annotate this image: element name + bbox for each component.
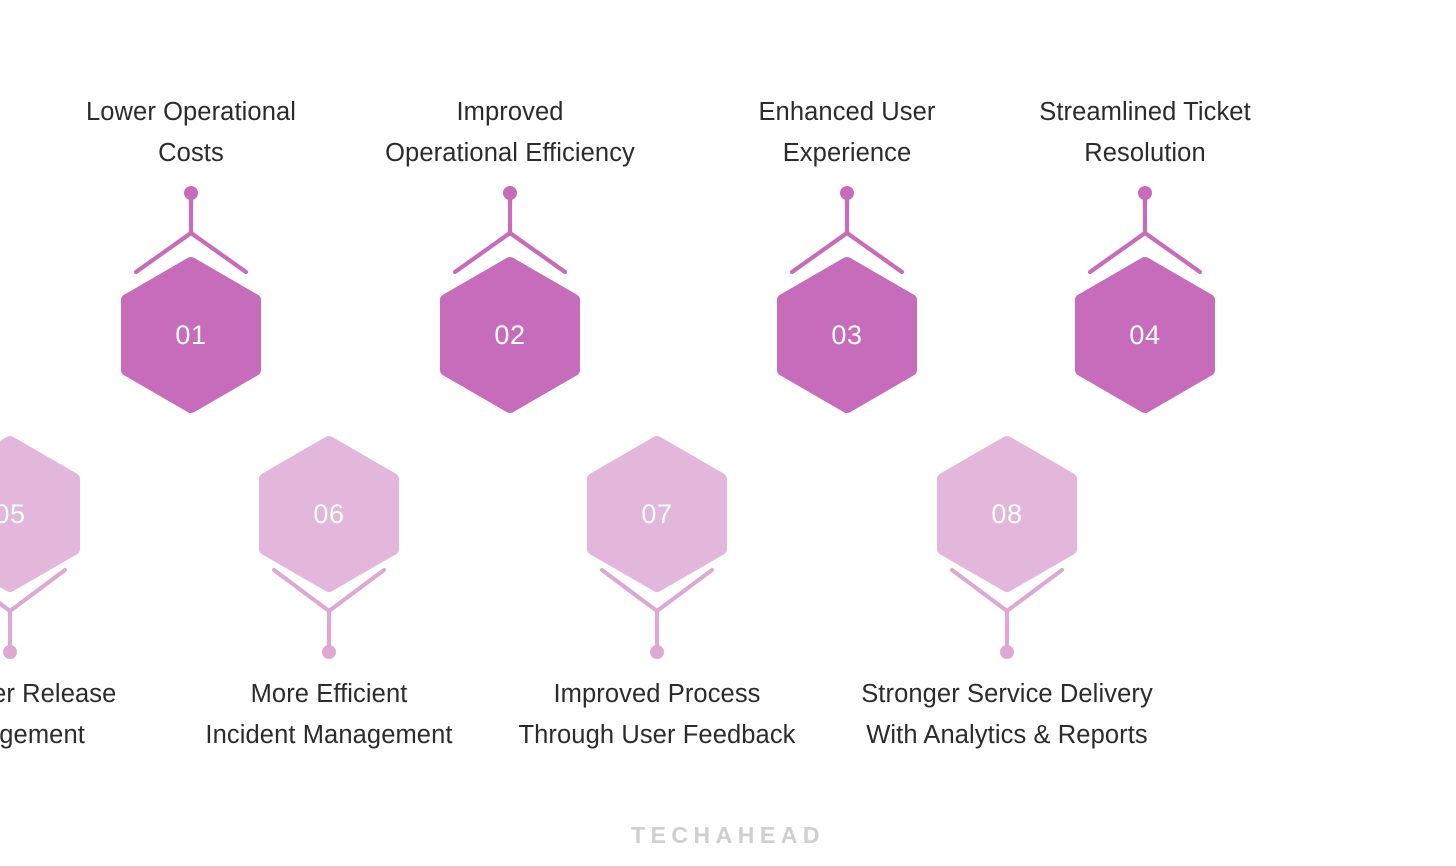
node-02-hexagon[interactable]: 02: [440, 261, 580, 409]
node-05-label: Smoother Release Management: [0, 674, 160, 756]
node-05-connector: [0, 566, 75, 640]
node-08-label: Stronger Service Delivery With Analytics…: [817, 674, 1197, 756]
node-03-connector: [782, 186, 912, 260]
node-01-connector: [126, 186, 256, 260]
node-07-label: Improved Process Through User Feedback: [507, 674, 807, 756]
node-04-label: Streamlined Ticket Resolution: [995, 92, 1295, 174]
node-04-connector: [1080, 186, 1210, 260]
infographic-canvas: Lower Operational Costs 01 Improved Oper…: [0, 0, 1456, 866]
node-04-hexagon[interactable]: 04: [1075, 261, 1215, 409]
node-01-label: Lower Operational Costs: [41, 92, 341, 174]
node-02-connector: [445, 186, 575, 260]
node-07-connector: [592, 566, 722, 640]
node-02-label: Improved Operational Efficiency: [360, 92, 660, 174]
node-08-connector: [942, 566, 1072, 640]
node-06-label: More Efficient Incident Management: [179, 674, 479, 756]
node-01-hexagon[interactable]: 01: [121, 261, 261, 409]
node-06-connector: [264, 566, 394, 640]
techahead-watermark: TECHAHEAD: [0, 822, 1456, 849]
node-03-label: Enhanced User Experience: [697, 92, 997, 174]
node-03-hexagon[interactable]: 03: [777, 261, 917, 409]
